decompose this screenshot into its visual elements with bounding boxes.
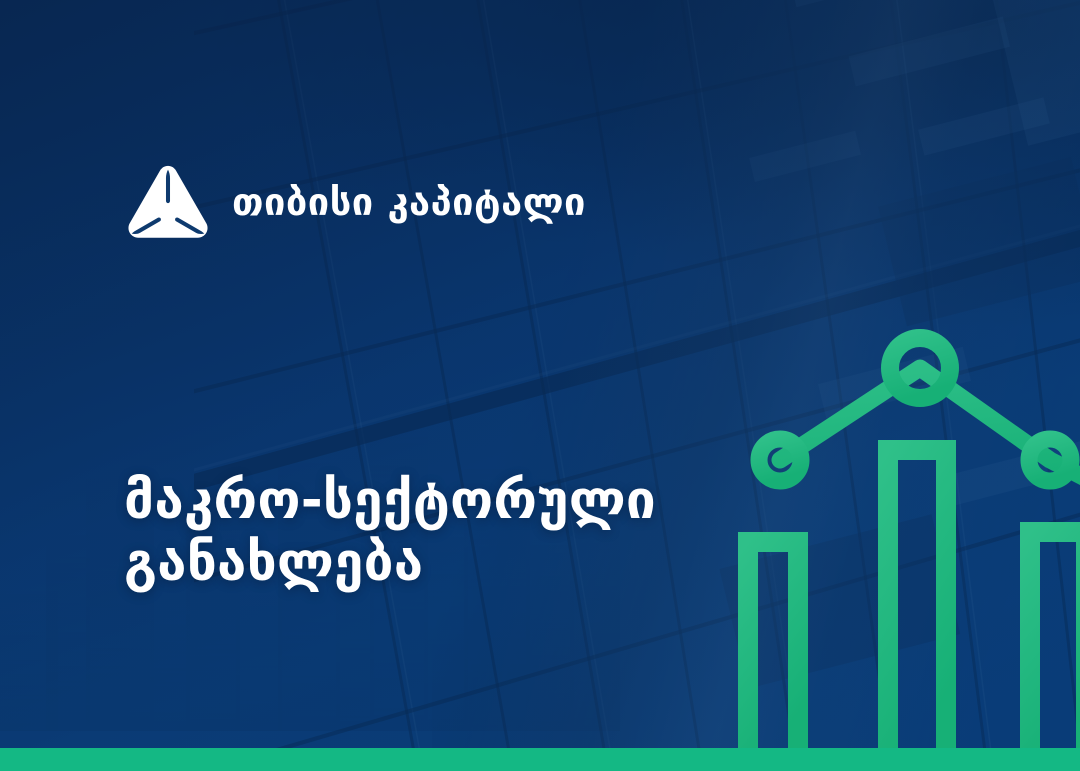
cover-slide: თიბისი კაპიტალი მაკრო-სექტორული განახლებ… [0,0,1080,771]
brand-wordmark: თიბისი კაპიტალი [232,183,586,221]
page-title-line-1: მაკრო-სექტორული [124,470,784,533]
brand-accent-band [0,748,1080,771]
tbc-triangle-logo-icon [126,163,210,241]
brand-logo-lockup: თიბისი კაპიტალი [126,163,586,241]
page-title-line-2: განახლება [124,532,784,595]
background-photo [0,0,1080,771]
page-title: მაკრო-სექტორული განახლება [124,470,784,595]
